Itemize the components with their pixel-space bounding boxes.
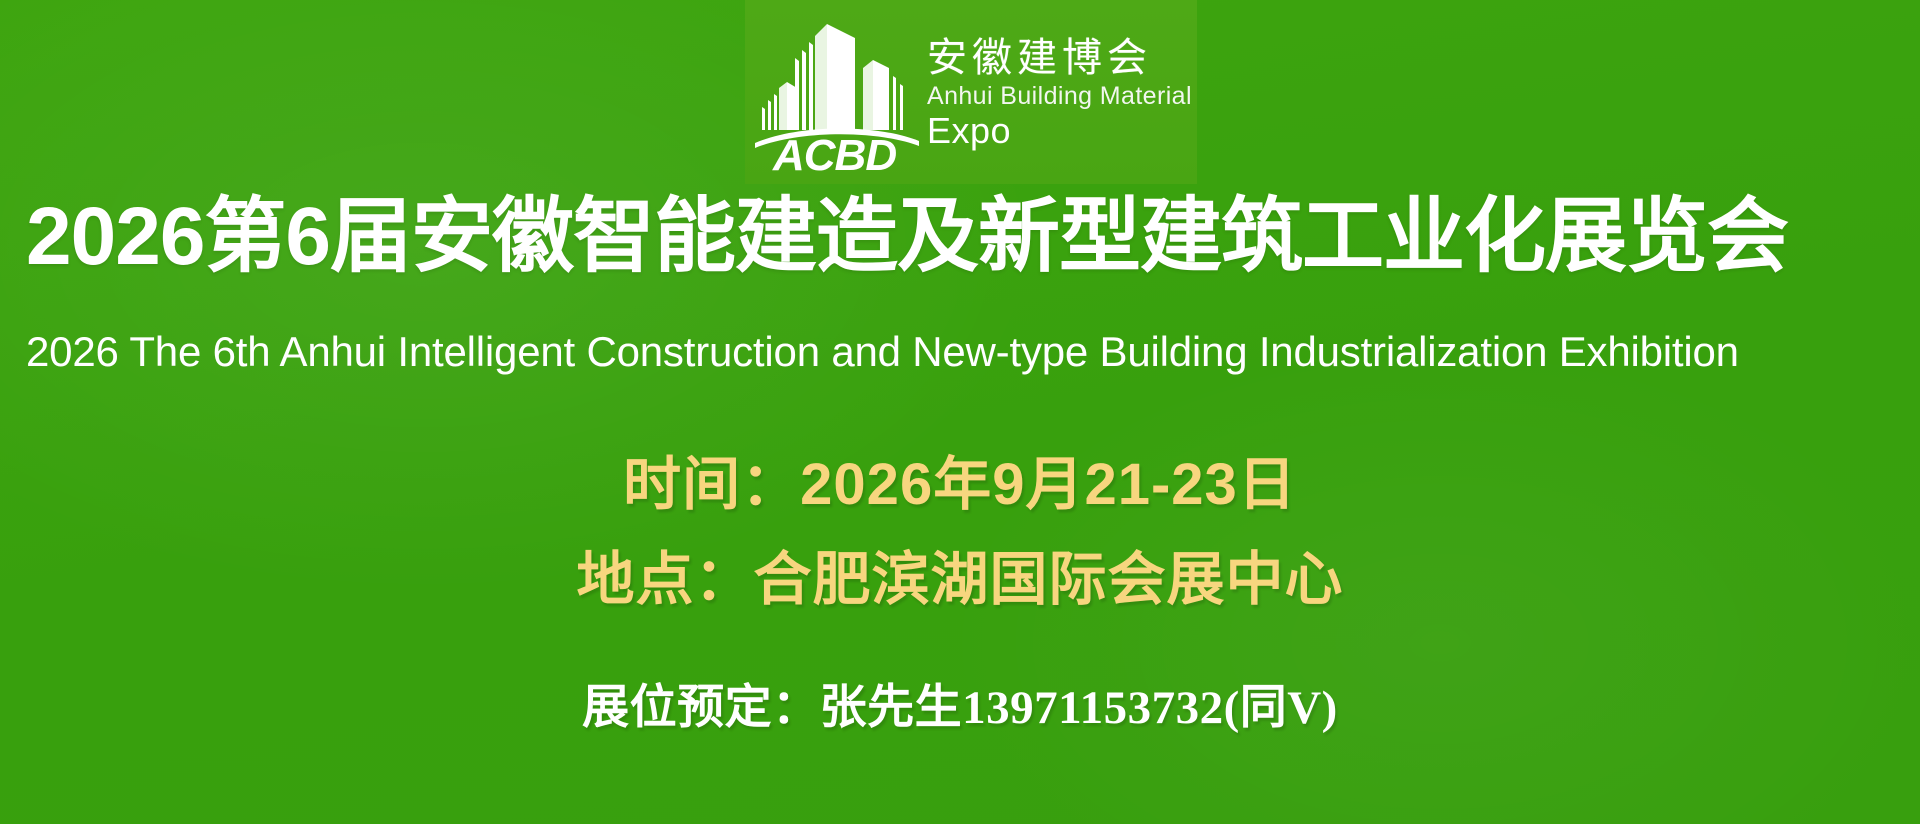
expo-name-chinese: 安徽建博会: [927, 37, 1192, 80]
svg-text:ACBD: ACBD: [772, 131, 896, 172]
expo-logo-wordmark: 安徽建博会 Anhui Building Material Expo: [927, 33, 1192, 152]
booth-reservation-contact: 展位预定：张先生13971153732(同V): [0, 668, 1920, 737]
headline-chinese: 2026第6届安徽智能建造及新型建筑工业化展览会: [26, 191, 1902, 283]
exhibition-poster: ACBD 安徽建博会 Anhui Building Material Expo …: [0, 0, 1920, 824]
acbd-logo-icon: ACBD: [753, 12, 921, 172]
expo-logo-panel: ACBD 安徽建博会 Anhui Building Material Expo: [745, 0, 1197, 184]
expo-name-english-line2: Expo: [927, 111, 1192, 151]
headline-english: 2026 The 6th Anhui Intelligent Construct…: [26, 327, 1902, 377]
expo-name-english-line1: Anhui Building Material: [927, 82, 1192, 110]
event-venue: 地点：合肥滨湖国际会展中心: [0, 532, 1920, 616]
event-time: 时间：2026年9月21-23日: [0, 437, 1920, 521]
